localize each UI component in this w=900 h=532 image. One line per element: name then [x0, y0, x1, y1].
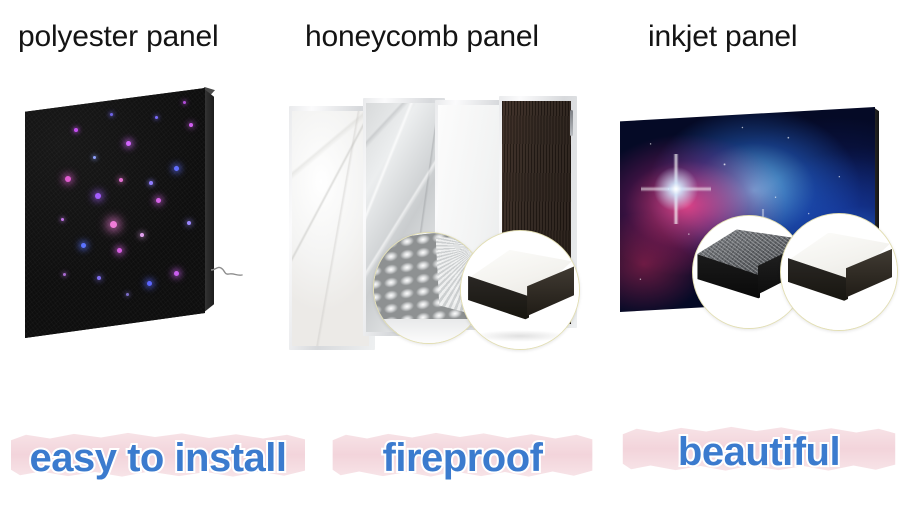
panel-front-face	[25, 88, 205, 338]
caption-text: beautiful	[620, 412, 898, 492]
product-image-inkjet-panel	[608, 95, 900, 360]
caption-text: easy to install	[8, 418, 308, 498]
column-heading-honeycomb: honeycomb panel	[305, 20, 539, 54]
column-heading-inkjet: inkjet panel	[648, 20, 797, 54]
caption-easy-to-install: easy to install	[8, 418, 308, 498]
product-comparison-stage: polyester panel honeycomb panel inkjet p…	[0, 0, 900, 532]
panel-cross-section-callout	[780, 213, 898, 331]
polyester-star-panel	[25, 88, 230, 343]
caption-fireproof: fireproof	[330, 418, 595, 498]
edge-cross-section-callout	[460, 230, 580, 350]
caption-beautiful: beautiful	[620, 412, 898, 492]
power-cable-icon	[211, 266, 243, 282]
caption-text: fireproof	[330, 418, 595, 498]
product-image-honeycomb-panel	[285, 90, 590, 365]
star-burst	[641, 154, 711, 224]
product-image-polyester-panel	[0, 80, 300, 360]
column-heading-polyester: polyester panel	[18, 20, 218, 54]
